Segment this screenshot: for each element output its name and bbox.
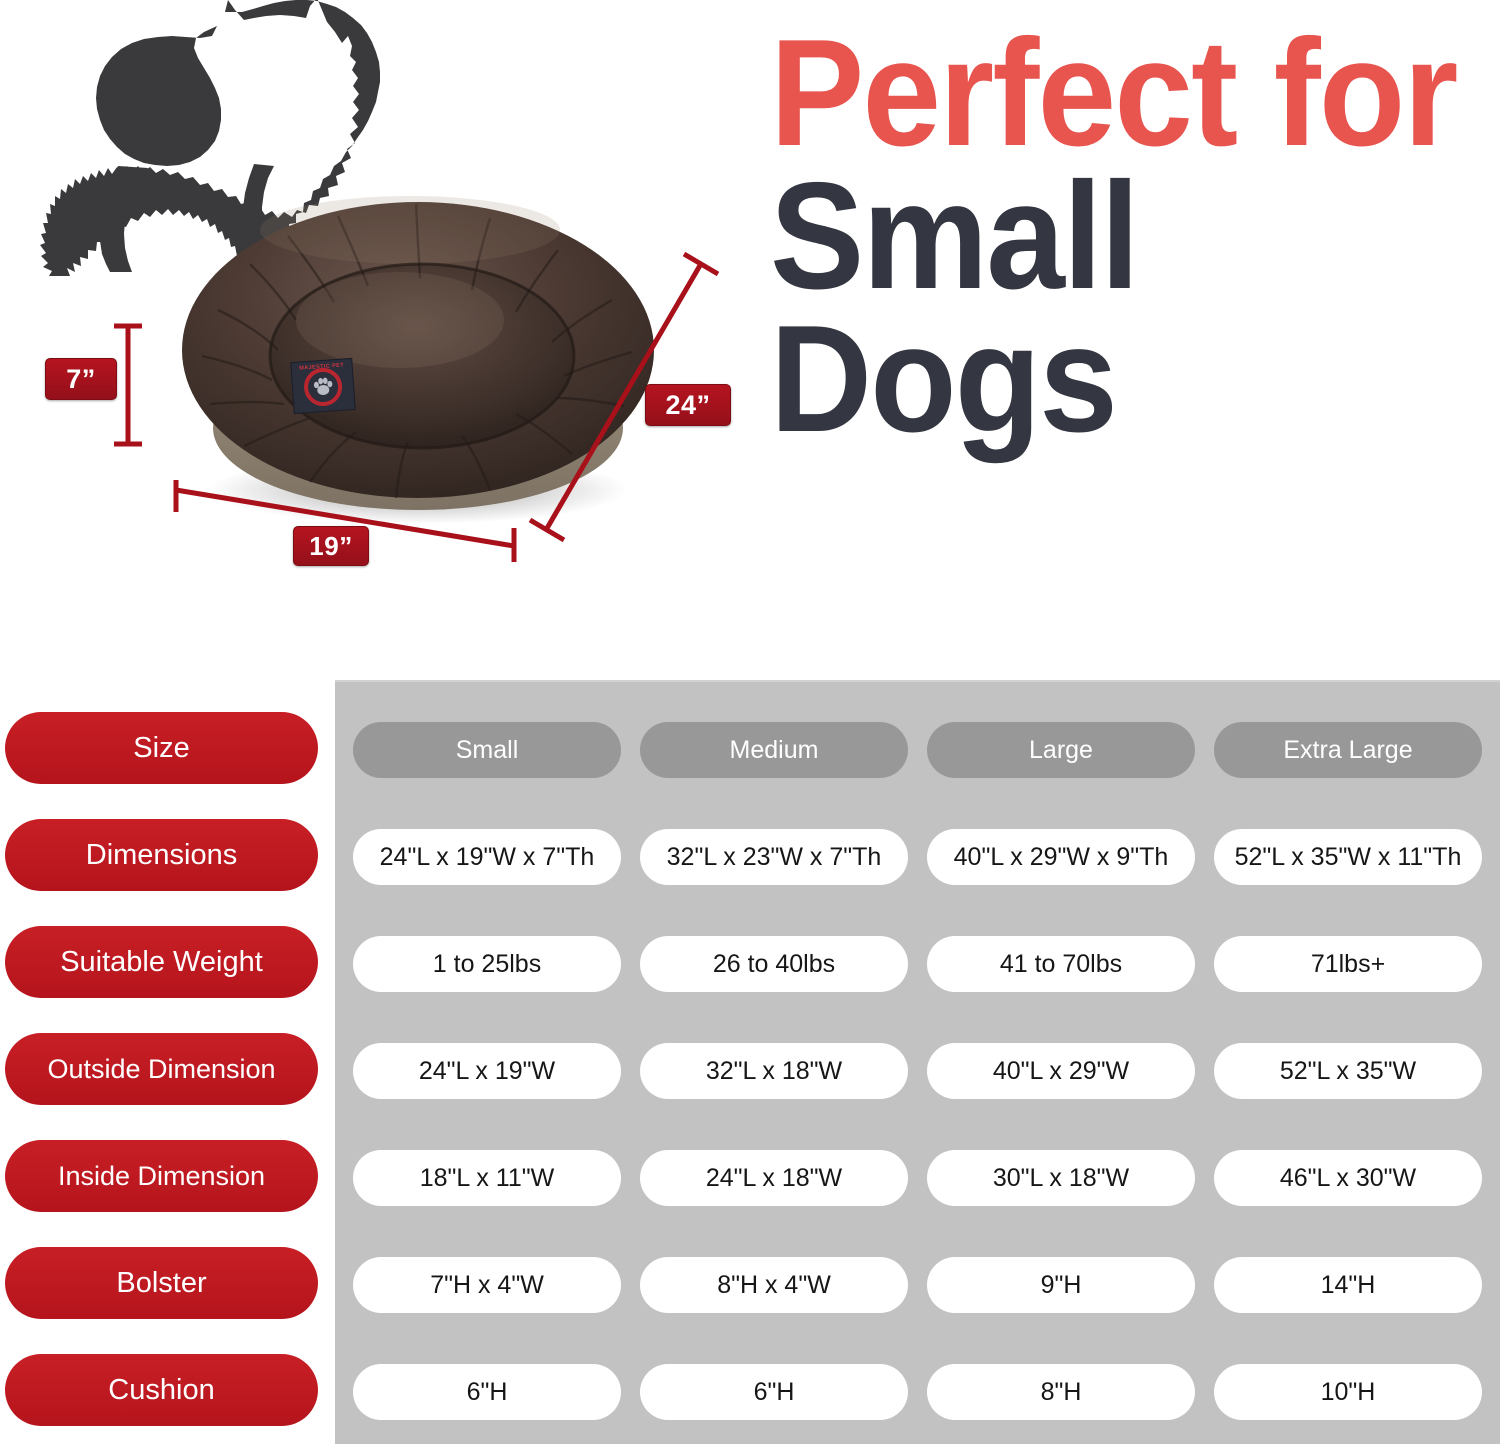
table-cell: 52"L x 35"W x 11"Th bbox=[1214, 829, 1482, 885]
headline-line-2: Small bbox=[770, 165, 1449, 308]
callout-badge-bolster-height: 7” bbox=[45, 358, 117, 400]
table-cell: 10"H bbox=[1214, 1364, 1482, 1420]
table-cell: 30"L x 18"W bbox=[927, 1150, 1195, 1206]
hero-section: MAJESTIC PET bbox=[0, 0, 1500, 680]
spec-table-panel: SmallMediumLargeExtra Large24"L x 19"W x… bbox=[335, 680, 1500, 1444]
table-cell: 8"H x 4"W bbox=[640, 1257, 908, 1313]
row-label-suitable-weight: Suitable Weight bbox=[5, 926, 318, 998]
table-cell: 26 to 40lbs bbox=[640, 936, 908, 992]
table-cell: 24"L x 18"W bbox=[640, 1150, 908, 1206]
column-header-small: Small bbox=[353, 722, 621, 778]
spec-table-row-labels: SizeDimensionsSuitable WeightOutside Dim… bbox=[0, 680, 335, 1444]
table-cell: 14"H bbox=[1214, 1257, 1482, 1313]
table-cell: 1 to 25lbs bbox=[353, 936, 621, 992]
table-cell: 32"L x 18"W bbox=[640, 1043, 908, 1099]
column-header-medium: Medium bbox=[640, 722, 908, 778]
table-cell: 32"L x 23"W x 7"Th bbox=[640, 829, 908, 885]
brand-label-tag: MAJESTIC PET bbox=[290, 358, 355, 414]
table-cell: 6"H bbox=[640, 1364, 908, 1420]
table-cell: 8"H bbox=[927, 1364, 1195, 1420]
row-label-dimensions: Dimensions bbox=[5, 819, 318, 891]
table-cell: 71lbs+ bbox=[1214, 936, 1482, 992]
callout-badge-outside-width: 19” bbox=[293, 526, 369, 566]
column-header-large: Large bbox=[927, 722, 1195, 778]
table-cell: 24"L x 19"W bbox=[353, 1043, 621, 1099]
table-cell: 24"L x 19"W x 7"Th bbox=[353, 829, 621, 885]
row-label-outside-dimension: Outside Dimension bbox=[5, 1033, 318, 1105]
hero-headline: Perfect for Small Dogs bbox=[770, 22, 1500, 451]
row-label-size: Size bbox=[5, 712, 318, 784]
column-header-extra-large: Extra Large bbox=[1214, 722, 1482, 778]
table-cell: 40"L x 29"W x 9"Th bbox=[927, 829, 1195, 885]
row-label-inside-dimension: Inside Dimension bbox=[5, 1140, 318, 1212]
callout-badge-outside-length: 24” bbox=[645, 384, 731, 426]
row-label-cushion: Cushion bbox=[5, 1354, 318, 1426]
table-cell: 52"L x 35"W bbox=[1214, 1043, 1482, 1099]
table-cell: 9"H bbox=[927, 1257, 1195, 1313]
row-label-bolster: Bolster bbox=[5, 1247, 318, 1319]
table-cell: 7"H x 4"W bbox=[353, 1257, 621, 1313]
headline-line-3: Dogs bbox=[770, 308, 1449, 451]
table-cell: 6"H bbox=[353, 1364, 621, 1420]
table-cell: 18"L x 11"W bbox=[353, 1150, 621, 1206]
table-cell: 46"L x 30"W bbox=[1214, 1150, 1482, 1206]
table-cell: 41 to 70lbs bbox=[927, 936, 1195, 992]
infographic-root: MAJESTIC PET bbox=[0, 0, 1500, 1444]
paw-print-icon bbox=[310, 374, 336, 400]
headline-line-1: Perfect for bbox=[770, 22, 1449, 165]
table-cell: 40"L x 29"W bbox=[927, 1043, 1195, 1099]
